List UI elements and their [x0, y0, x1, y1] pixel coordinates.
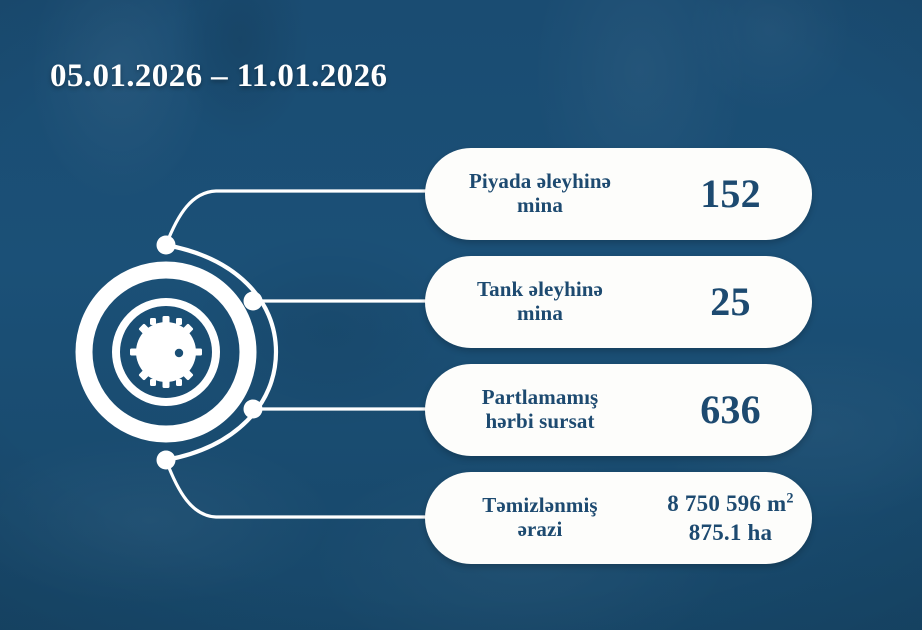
node-dot-2 — [244, 292, 263, 311]
stat-value-hectares: 875.1 ha — [649, 518, 812, 547]
infographic-canvas: 05.01.2026 – 11.01.2026 — [0, 0, 922, 630]
stat-card-anti-personnel-mine: Piyada əleyhinə mina 152 — [425, 148, 812, 240]
connector-line-1 — [166, 191, 432, 245]
stat-value: 25 — [649, 282, 812, 322]
stat-label: Təmizlənmiş ərazi — [425, 494, 649, 541]
stat-value: 636 — [649, 390, 812, 430]
connector-line-4 — [166, 460, 432, 517]
stat-label: Partlamamış hərbi sursat — [425, 386, 649, 433]
stat-card-anti-tank-mine: Tank əleyhinə mina 25 — [425, 256, 812, 348]
stat-label: Piyada əleyhinə mina — [425, 170, 649, 217]
node-dot-1 — [157, 236, 176, 255]
landmine-icon — [130, 316, 202, 388]
stat-value: 152 — [649, 174, 812, 214]
node-dot-3 — [244, 400, 263, 419]
node-dot-4 — [157, 451, 176, 470]
stat-value-square-meters: 8 750 596 m2 — [649, 489, 812, 518]
stat-label: Tank əleyhinə mina — [425, 278, 649, 325]
stat-value: 8 750 596 m2 875.1 ha — [649, 489, 812, 548]
stat-card-cleared-area: Təmizlənmiş ərazi 8 750 596 m2 875.1 ha — [425, 472, 812, 564]
superscript-two: 2 — [786, 490, 793, 506]
stat-card-unexploded-ordnance: Partlamamış hərbi sursat 636 — [425, 364, 812, 456]
